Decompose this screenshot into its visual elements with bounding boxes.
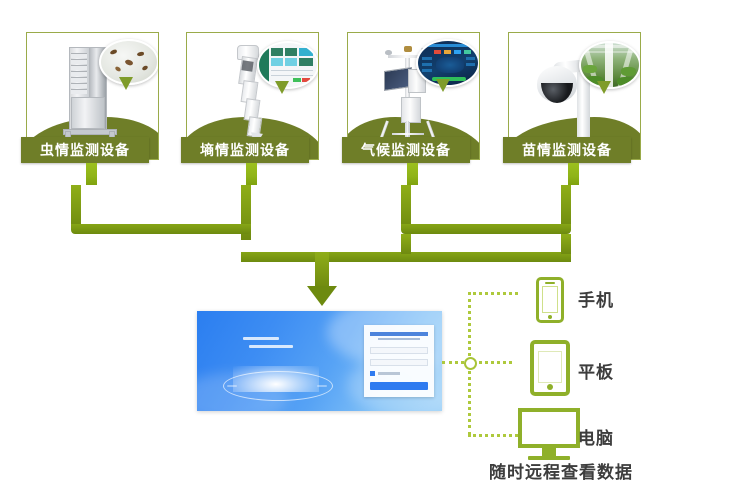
device-label-crop: 苗情监测设备 — [503, 137, 631, 163]
dotted-link-tablet — [442, 361, 512, 364]
connector-bus-left — [71, 224, 251, 234]
control-cabinet — [401, 97, 421, 123]
trap-louver — [71, 65, 87, 70]
bubble-tail — [275, 81, 289, 94]
client-label-tablet: 平板 — [578, 358, 614, 383]
connector-stem-soil — [246, 163, 257, 185]
device-card-insect[interactable]: 虫情监测设备 — [26, 32, 159, 160]
device-card-climate[interactable]: 气候监测设备 — [347, 32, 480, 160]
device-label-insect: 虫情监测设备 — [21, 137, 149, 163]
tripod-brace — [392, 133, 424, 135]
hero-line-1 — [243, 337, 279, 340]
desktop-computer-icon[interactable] — [518, 408, 580, 462]
connector-stem-crop — [568, 163, 579, 185]
tablet-screen — [538, 351, 562, 383]
dotted-link-desktop — [468, 434, 518, 437]
connector-stem-climate — [407, 163, 418, 185]
sensor-pod — [404, 46, 412, 52]
network-node — [464, 357, 477, 370]
probe-sticker — [241, 60, 253, 71]
trap-louver — [71, 89, 87, 94]
phone-speaker — [545, 282, 555, 284]
monitor-stand-neck — [542, 448, 556, 456]
password-input[interactable] — [370, 359, 428, 366]
bubble-tail — [436, 79, 450, 92]
tablet-home-button — [547, 384, 553, 390]
client-label-desktop: 电脑 — [578, 424, 614, 449]
connector-bus-right — [401, 224, 571, 234]
phone-screen — [542, 286, 558, 313]
connector-bus-lower-right — [320, 252, 571, 262]
footnote-text: 随时远程查看数据 — [489, 458, 633, 483]
anemometer-cup — [385, 50, 392, 55]
connector-stem-insect — [86, 163, 97, 185]
mobile-phone-icon[interactable] — [536, 277, 564, 323]
login-card-subtitle — [378, 338, 420, 340]
platform-cloud — [233, 366, 319, 392]
arrow-shaft — [315, 252, 329, 288]
platform-login-screenshot[interactable] — [197, 311, 442, 411]
device-card-crop[interactable]: 苗情监测设备 — [508, 32, 641, 160]
hero-line-2 — [249, 345, 293, 348]
trap-louver — [71, 53, 87, 58]
monitor-screen — [518, 408, 580, 448]
client-label-phone: 手机 — [578, 286, 614, 311]
device-label-climate: 气候监测设备 — [342, 137, 470, 163]
trap-louver — [71, 71, 87, 76]
connector-elbow-4 — [561, 234, 571, 254]
bubble-tail — [119, 77, 133, 90]
dotted-link-phone — [468, 292, 518, 295]
diagram-canvas: 虫情监测设备 — [0, 0, 750, 500]
login-card-title — [370, 332, 428, 336]
trap-louver — [71, 83, 87, 88]
trap-louver — [71, 59, 87, 64]
tablet-icon[interactable] — [530, 340, 570, 396]
device-card-soil[interactable]: 墒情监测设备 — [186, 32, 319, 160]
device-label-soil: 墒情监测设备 — [181, 137, 309, 163]
remember-checkbox[interactable] — [370, 371, 375, 376]
arrow-head — [307, 286, 337, 306]
login-button[interactable] — [370, 382, 428, 390]
remember-label — [378, 372, 400, 375]
trap-louver — [71, 77, 87, 82]
trap-cabinet — [71, 97, 105, 129]
connector-elbow-3 — [401, 234, 411, 254]
phone-home-button — [548, 315, 552, 319]
bubble-tail — [597, 81, 611, 94]
login-card[interactable] — [364, 325, 434, 397]
username-input[interactable] — [370, 347, 428, 354]
